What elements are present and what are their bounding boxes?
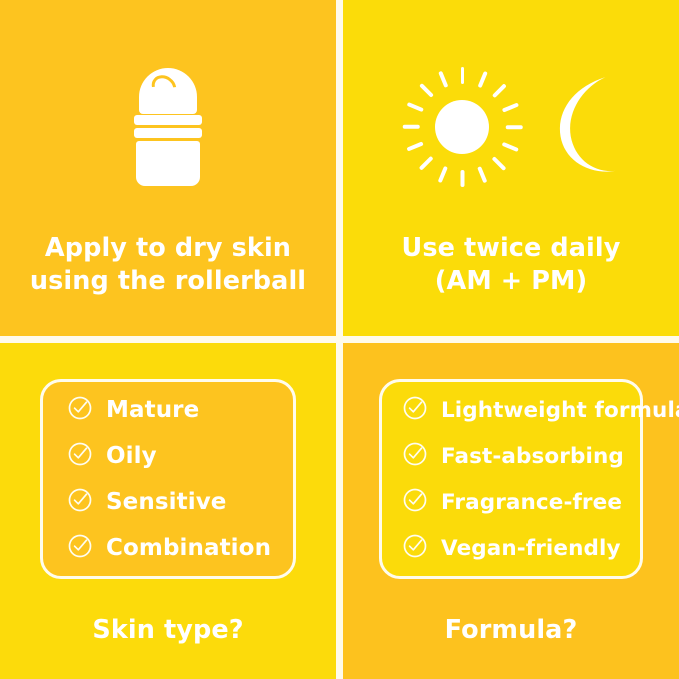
panel-frequency: Use twice daily (AM + PM) (343, 0, 679, 336)
rollerball-body (136, 141, 200, 186)
sun-ray (501, 142, 518, 152)
sun-moon-icon-group (402, 67, 620, 187)
list-item-label: Vegan-friendly (441, 536, 621, 561)
sun-ray (438, 166, 448, 183)
sun-ray (501, 102, 518, 112)
check-circle-icon (67, 441, 93, 471)
sun-ray (461, 67, 465, 84)
check-circle-icon (67, 487, 93, 517)
sun-ray (438, 71, 448, 88)
sun-ray (406, 102, 423, 112)
sun-ray (505, 125, 522, 129)
list-item-label: Oily (106, 443, 157, 469)
list-item-label: Combination (106, 535, 271, 561)
list-item: Combination (67, 528, 293, 568)
list-item: Sensitive (67, 482, 293, 522)
apply-caption-line2: using the rollerball (14, 265, 322, 298)
formula-label: Formula? (343, 615, 679, 645)
skin-type-checklist-card: Mature Oily Sensitive (40, 379, 296, 579)
sun-ray (491, 156, 505, 170)
frequency-caption-line2: (AM + PM) (357, 265, 665, 298)
rollerball-icon-area (0, 52, 336, 202)
panel-skin-type: Mature Oily Sensitive (0, 343, 336, 679)
list-item: Fragrance-free (402, 482, 640, 522)
check-circle-icon (67, 395, 93, 425)
list-item-label: Lightweight formula (441, 398, 679, 423)
sun-moon-icon-area (343, 52, 679, 202)
skin-type-label: Skin type? (0, 615, 336, 645)
frequency-caption-line1: Use twice daily (402, 233, 621, 263)
apply-caption-line1: Apply to dry skin (45, 233, 291, 263)
formula-checklist-card: Lightweight formula Fast-absorbing Fragr… (379, 379, 643, 579)
sun-disc (435, 100, 489, 154)
quadrant-grid: Apply to dry skin using the rollerball U… (0, 0, 679, 679)
list-item-label: Mature (106, 397, 199, 423)
sun-ray (491, 83, 505, 97)
sun-ray (419, 156, 433, 170)
list-item: Lightweight formula (402, 390, 640, 430)
sun-ray (419, 83, 433, 97)
list-item: Mature (67, 390, 293, 430)
sun-ray (406, 142, 423, 152)
crescent-moon-icon (536, 73, 620, 177)
panel-formula: Lightweight formula Fast-absorbing Fragr… (343, 343, 679, 679)
rollerball-ring-upper (134, 115, 202, 125)
check-circle-icon (402, 395, 428, 425)
product-info-infographic: Apply to dry skin using the rollerball U… (0, 0, 679, 679)
sun-ray (477, 166, 487, 183)
sun-ray (402, 125, 419, 129)
check-circle-icon (402, 533, 428, 563)
check-circle-icon (402, 441, 428, 471)
sun-ray (461, 170, 465, 187)
frequency-caption: Use twice daily (AM + PM) (343, 232, 679, 298)
list-item: Vegan-friendly (402, 528, 640, 568)
sun-icon (402, 67, 522, 187)
sun-ray (477, 71, 487, 88)
panel-apply: Apply to dry skin using the rollerball (0, 0, 336, 336)
list-item-label: Fragrance-free (441, 490, 622, 515)
check-circle-icon (402, 487, 428, 517)
list-item: Fast-absorbing (402, 436, 640, 476)
apply-caption: Apply to dry skin using the rollerball (0, 232, 336, 298)
check-circle-icon (67, 533, 93, 563)
list-item: Oily (67, 436, 293, 476)
rollerball-ring-lower (134, 128, 202, 138)
list-item-label: Fast-absorbing (441, 444, 624, 469)
rollerball-deodorant-icon (133, 68, 203, 186)
list-item-label: Sensitive (106, 489, 226, 515)
